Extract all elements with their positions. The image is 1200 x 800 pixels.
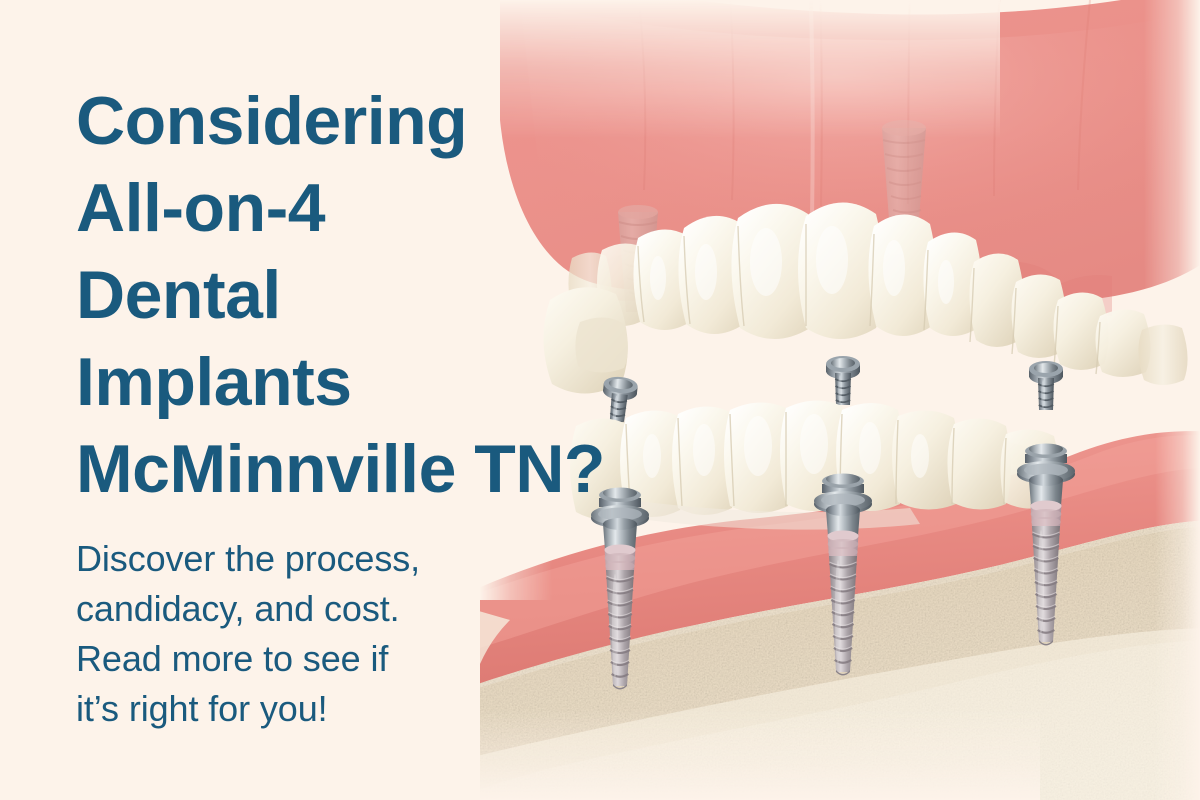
banner-root: Considering All-on-4 Dental Implants McM… [0,0,1200,800]
headline-line-5: McMinnville TN? [76,426,636,513]
subtitle-line-2: candidacy, and cost. [76,584,636,634]
headline-line-4: Implants [76,339,636,426]
text-panel: Considering All-on-4 Dental Implants McM… [76,78,636,734]
subtitle: Discover the process, candidacy, and cos… [76,534,636,734]
subtitle-line-3: Read more to see if [76,634,636,684]
subtitle-line-1: Discover the process, [76,534,636,584]
headline-line-3: Dental [76,252,636,339]
page-title: Considering All-on-4 Dental Implants McM… [76,78,636,513]
headline-line-1: Considering [76,78,636,165]
subtitle-line-4: it’s right for you! [76,684,636,734]
headline-line-2: All-on-4 [76,165,636,252]
